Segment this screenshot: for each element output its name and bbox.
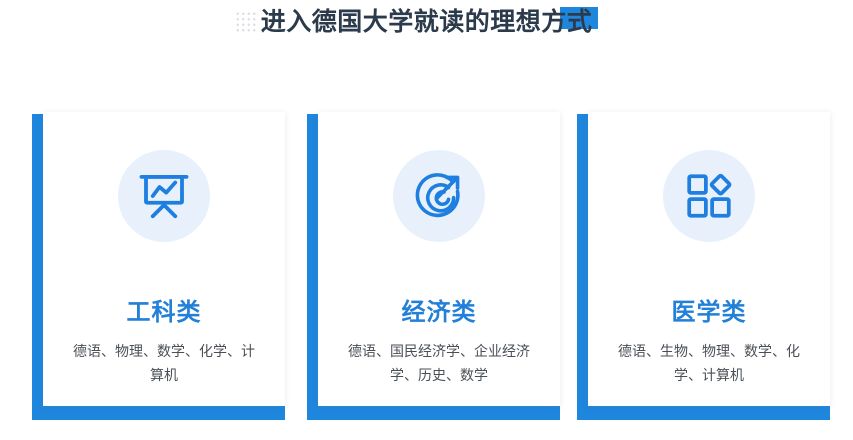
icon-circle-engineering — [118, 150, 210, 242]
apps-grid-icon — [684, 171, 734, 221]
card-body-engineering: 工科类 德语、物理、数学、化学、计算机 — [43, 112, 285, 406]
card-engineering[interactable]: 工科类 德语、物理、数学、化学、计算机 — [30, 110, 286, 420]
title-inner: 进入德国大学就读的理想方式 — [261, 4, 593, 40]
page-title: 进入德国大学就读的理想方式 — [261, 7, 593, 36]
title-wrapper: 进入德国大学就读的理想方式 — [0, 4, 853, 44]
card-description-economics: 德语、国民经济学、企业经济学、历史、数学 — [344, 340, 534, 388]
card-description-engineering: 德语、物理、数学、化学、计算机 — [69, 340, 259, 388]
card-title-engineering: 工科类 — [43, 292, 285, 327]
icon-circle-medicine — [663, 150, 755, 242]
page-header: 进入德国大学就读的理想方式 — [0, 0, 853, 52]
card-description-medicine: 德语、生物、物理、数学、化学、计算机 — [614, 340, 804, 388]
card-title-economics: 经济类 — [318, 292, 560, 327]
card-body-medicine: 医学类 德语、生物、物理、数学、化学、计算机 — [588, 112, 830, 406]
target-arrow-icon — [412, 169, 466, 223]
card-economics[interactable]: 经济类 德语、国民经济学、企业经济学、历史、数学 — [305, 110, 561, 420]
card-medicine[interactable]: 医学类 德语、生物、物理、数学、化学、计算机 — [575, 110, 831, 420]
card-list: 工科类 德语、物理、数学、化学、计算机 经济类 — [30, 110, 823, 420]
icon-circle-economics — [393, 150, 485, 242]
presentation-chart-icon — [137, 169, 191, 223]
card-title-medicine: 医学类 — [588, 292, 830, 327]
dot-grid-decoration-icon — [235, 11, 257, 33]
card-body-economics: 经济类 德语、国民经济学、企业经济学、历史、数学 — [318, 112, 560, 406]
